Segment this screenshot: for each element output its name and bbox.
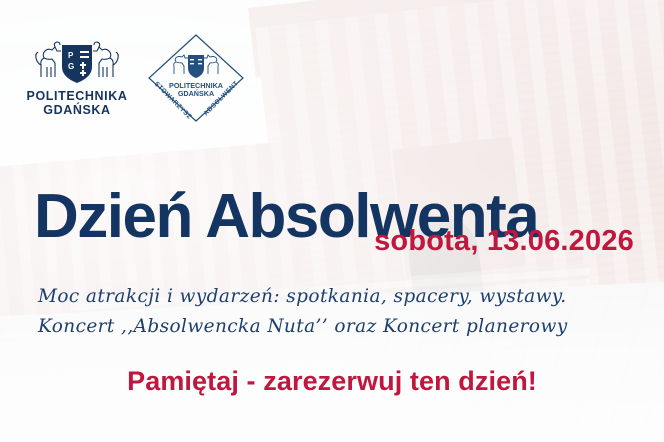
- svg-text:P: P: [68, 51, 74, 60]
- university-logo-label: POLITECHNIKA GDAŃSKA: [27, 90, 128, 117]
- svg-text:G: G: [68, 62, 74, 71]
- call-to-action: Pamiętaj - zarezerwuj ten dzień!: [0, 366, 664, 396]
- pg-coat-of-arms-icon: P G: [31, 39, 123, 87]
- poster-content: P G POLITECHNIKA GDAŃSKA: [0, 0, 664, 442]
- university-logo: P G POLITECHNIKA GDAŃSKA: [22, 39, 132, 117]
- association-center-line2: GDAŃSKA: [178, 89, 214, 98]
- description-line-1: Moc atrakcji i wydarzeń: spotkania, spac…: [38, 282, 568, 312]
- association-logo: POLITECHNIKA GDAŃSKA STOWARZYSZENIE ABSO…: [144, 30, 248, 126]
- description-line-2: Koncert ,,Absolwencka Nuta’’ oraz Koncer…: [38, 312, 568, 342]
- event-date: sobota, 13.06.2026: [374, 226, 634, 256]
- diamond-alumni-emblem-icon: POLITECHNIKA GDAŃSKA STOWARZYSZENIE ABSO…: [144, 30, 248, 126]
- event-description: Moc atrakcji i wydarzeń: spotkania, spac…: [38, 282, 568, 342]
- logo-group: P G POLITECHNIKA GDAŃSKA: [22, 30, 248, 126]
- event-poster: P G POLITECHNIKA GDAŃSKA: [0, 0, 664, 442]
